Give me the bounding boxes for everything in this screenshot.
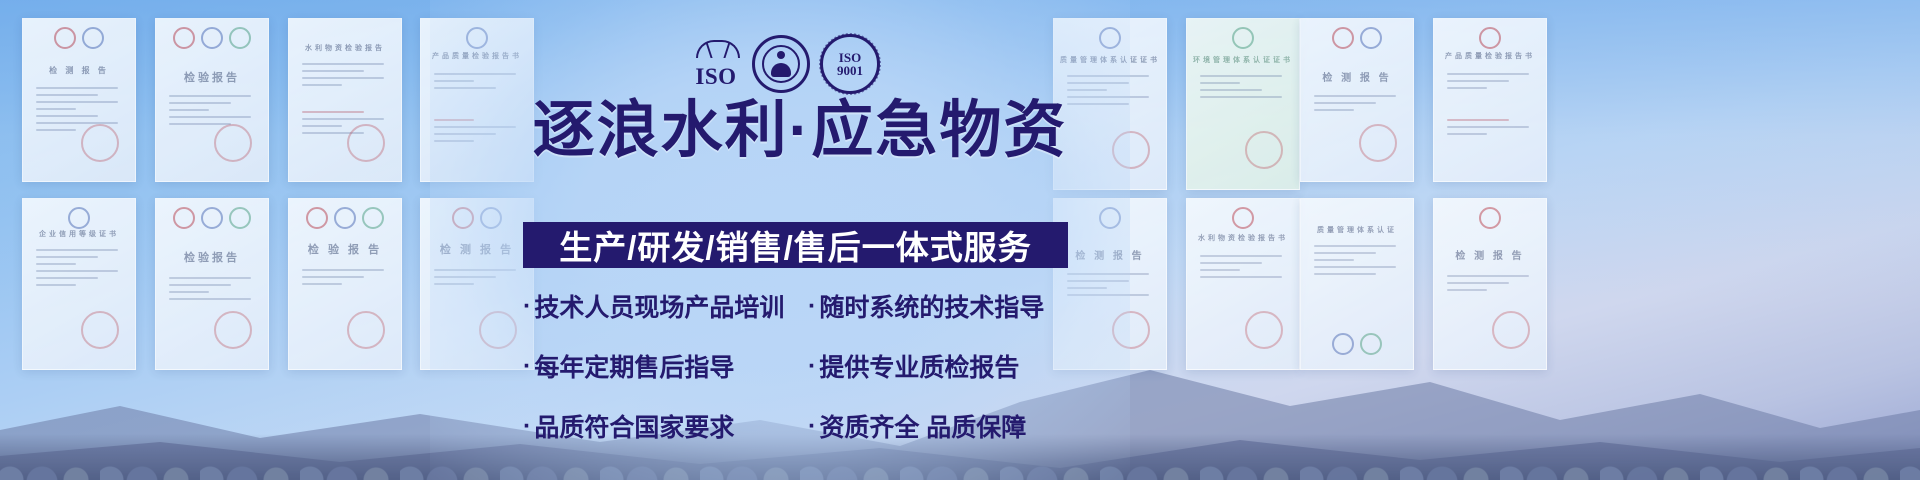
feature-item: · 资质齐全 品质保障 [808, 408, 1068, 444]
certificate-card: 企业信用等级证书 [22, 198, 136, 370]
bullet-icon: · [523, 414, 531, 439]
feature-item: · 提供专业质检报告 [808, 348, 1068, 384]
certificate-card: 检 测 报 告 [1433, 198, 1547, 370]
iso-label: ISO [690, 65, 742, 88]
certificate-card: 检 验 报 告 [288, 198, 402, 370]
certificate-title: 检 验 报 告 [289, 241, 401, 257]
banner-headline: 逐浪水利·应急物资 [500, 100, 1100, 162]
bullet-icon: · [523, 354, 531, 379]
feature-item: · 每年定期售后指导 [523, 348, 808, 384]
bullet-icon: · [808, 294, 816, 319]
certificate-title: 检 测 报 告 [1434, 247, 1546, 262]
bullet-icon: · [808, 414, 816, 439]
certificate-card: 检验报告 [155, 198, 269, 370]
feature-label: 随时系统的技术指导 [819, 288, 1044, 324]
certificate-card: 环境管理体系认证证书 [1186, 18, 1300, 190]
certificate-title: 环境管理体系认证证书 [1187, 55, 1299, 65]
certificate-card: 检验报告 [155, 18, 269, 182]
iso-icon: ISO [690, 40, 742, 88]
promo-banner: 检 测 报 告 检验报告 水利物资检验报告 产品质量检验报告书 质量管理体系认证… [0, 0, 1920, 480]
feature-label: 资质齐全 品质保障 [819, 408, 1026, 444]
iso-9001-icon: ISO 9001 [820, 34, 880, 94]
bullet-icon: · [808, 354, 816, 379]
certificate-title: 检验报告 [156, 249, 268, 265]
feature-item: · 随时系统的技术指导 [808, 288, 1068, 324]
certificate-card: 水利物资检验报告 [288, 18, 402, 182]
certificate-card: 质量管理体系认证 [1300, 198, 1414, 370]
certificate-card: 检 测 报 告 [22, 18, 136, 182]
certificate-card: 水利物资检验报告书 [1186, 198, 1300, 370]
certificate-card: 检 测 报 告 [1300, 18, 1414, 182]
quality-seal-icon [752, 35, 810, 93]
feature-item: · 技术人员现场产品培训 [523, 288, 808, 324]
certificate-title: 检 测 报 告 [1301, 69, 1413, 84]
banner-subtitle-bar: 生产/研发/销售/售后一体式服务 [523, 222, 1068, 268]
feature-label: 技术人员现场产品培训 [534, 288, 784, 324]
certificate-title: 检验报告 [156, 69, 268, 85]
certificate-card: 产品质量检验报告书 [1433, 18, 1547, 182]
feature-item: · 品质符合国家要求 [523, 408, 808, 444]
certification-badges: ISO ISO 9001 [690, 34, 880, 94]
feature-list: · 技术人员现场产品培训 · 随时系统的技术指导 · 每年定期售后指导 · 提供… [523, 288, 1068, 444]
feature-label: 品质符合国家要求 [534, 408, 734, 444]
feature-label: 每年定期售后指导 [534, 348, 734, 384]
bullet-icon: · [523, 294, 531, 319]
feature-label: 提供专业质检报告 [819, 348, 1019, 384]
banner-subtitle-text: 生产/研发/销售/售后一体式服务 [559, 221, 1032, 269]
